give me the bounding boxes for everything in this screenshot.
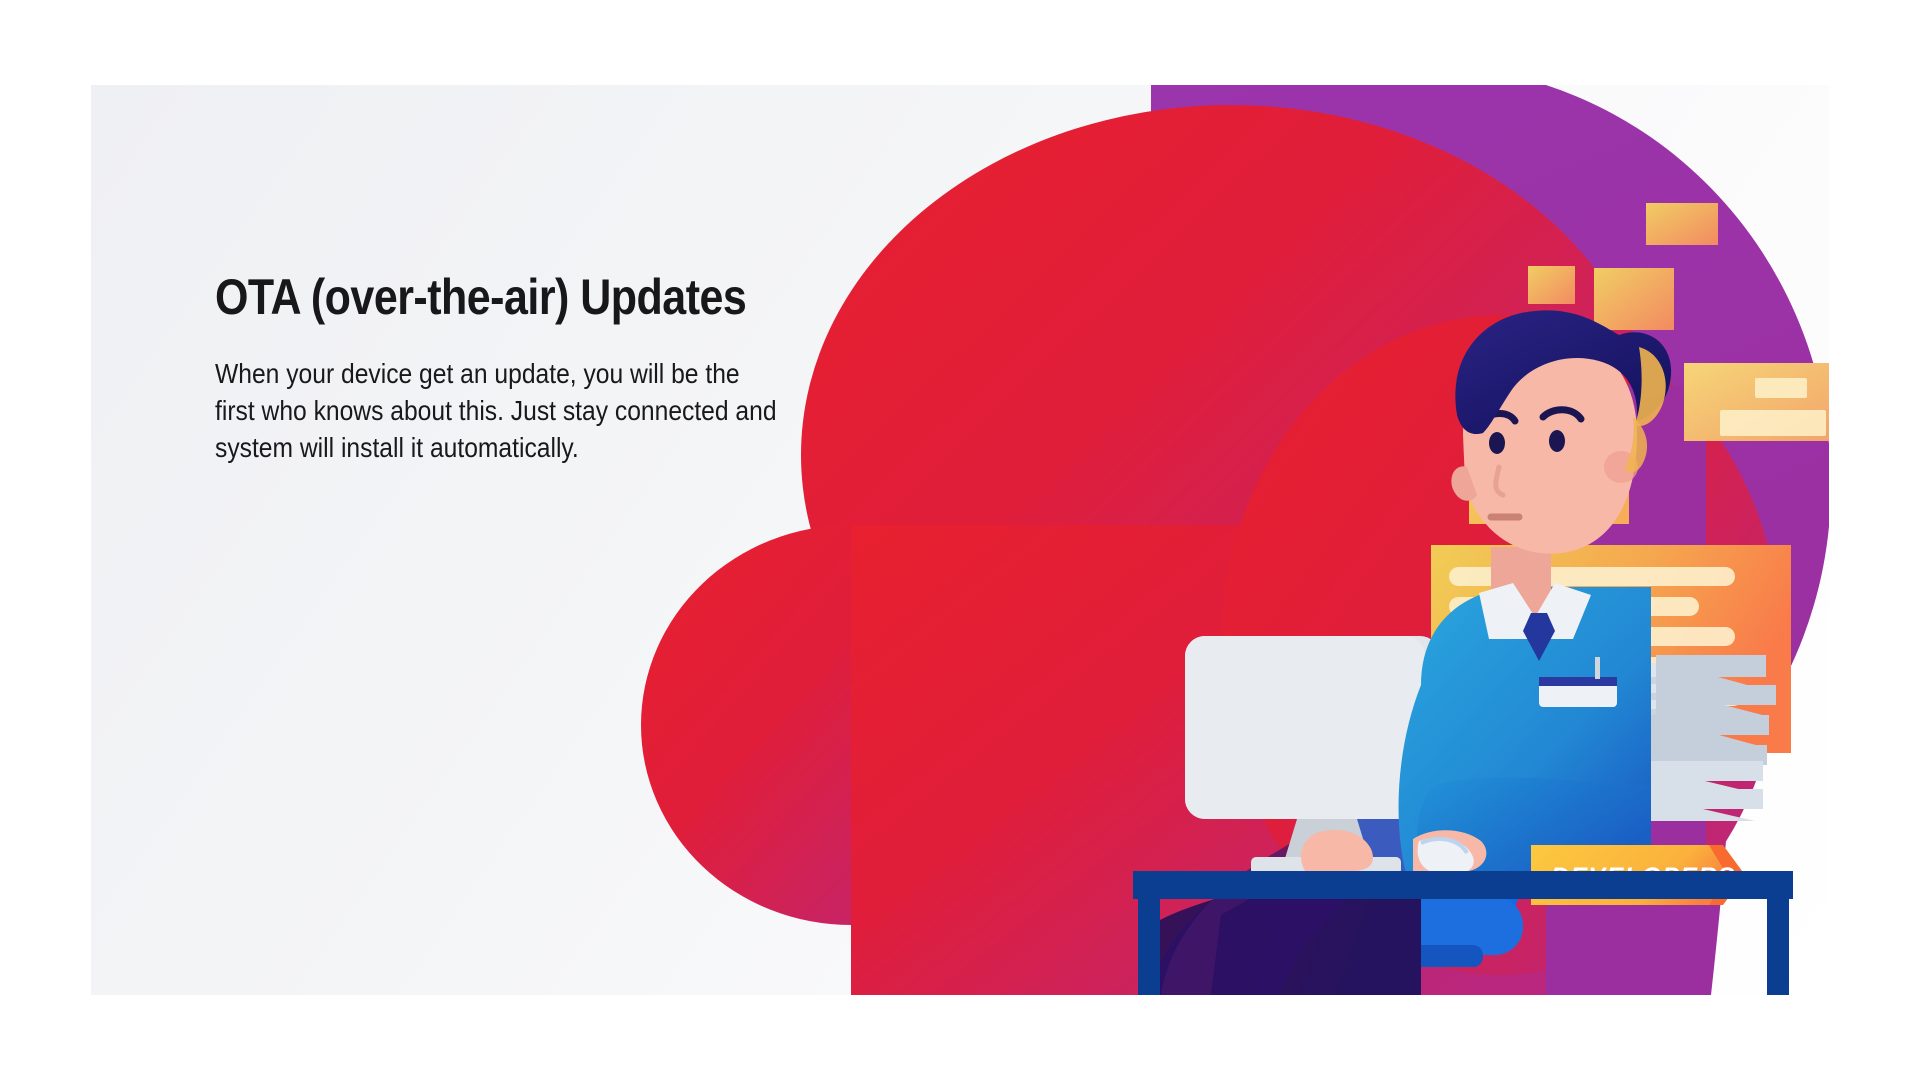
content-panel: DEVELOPERS OTA (over-the-air) Updates Wh… xyxy=(91,85,1829,995)
text-block: OTA (over-the-air) Updates When your dev… xyxy=(215,270,875,467)
page-description: When your device get an update, you will… xyxy=(215,356,778,467)
page-title: OTA (over-the-air) Updates xyxy=(215,270,783,324)
illustration: DEVELOPERS xyxy=(91,85,1829,995)
slide-canvas: DEVELOPERS OTA (over-the-air) Updates Wh… xyxy=(0,0,1920,1080)
